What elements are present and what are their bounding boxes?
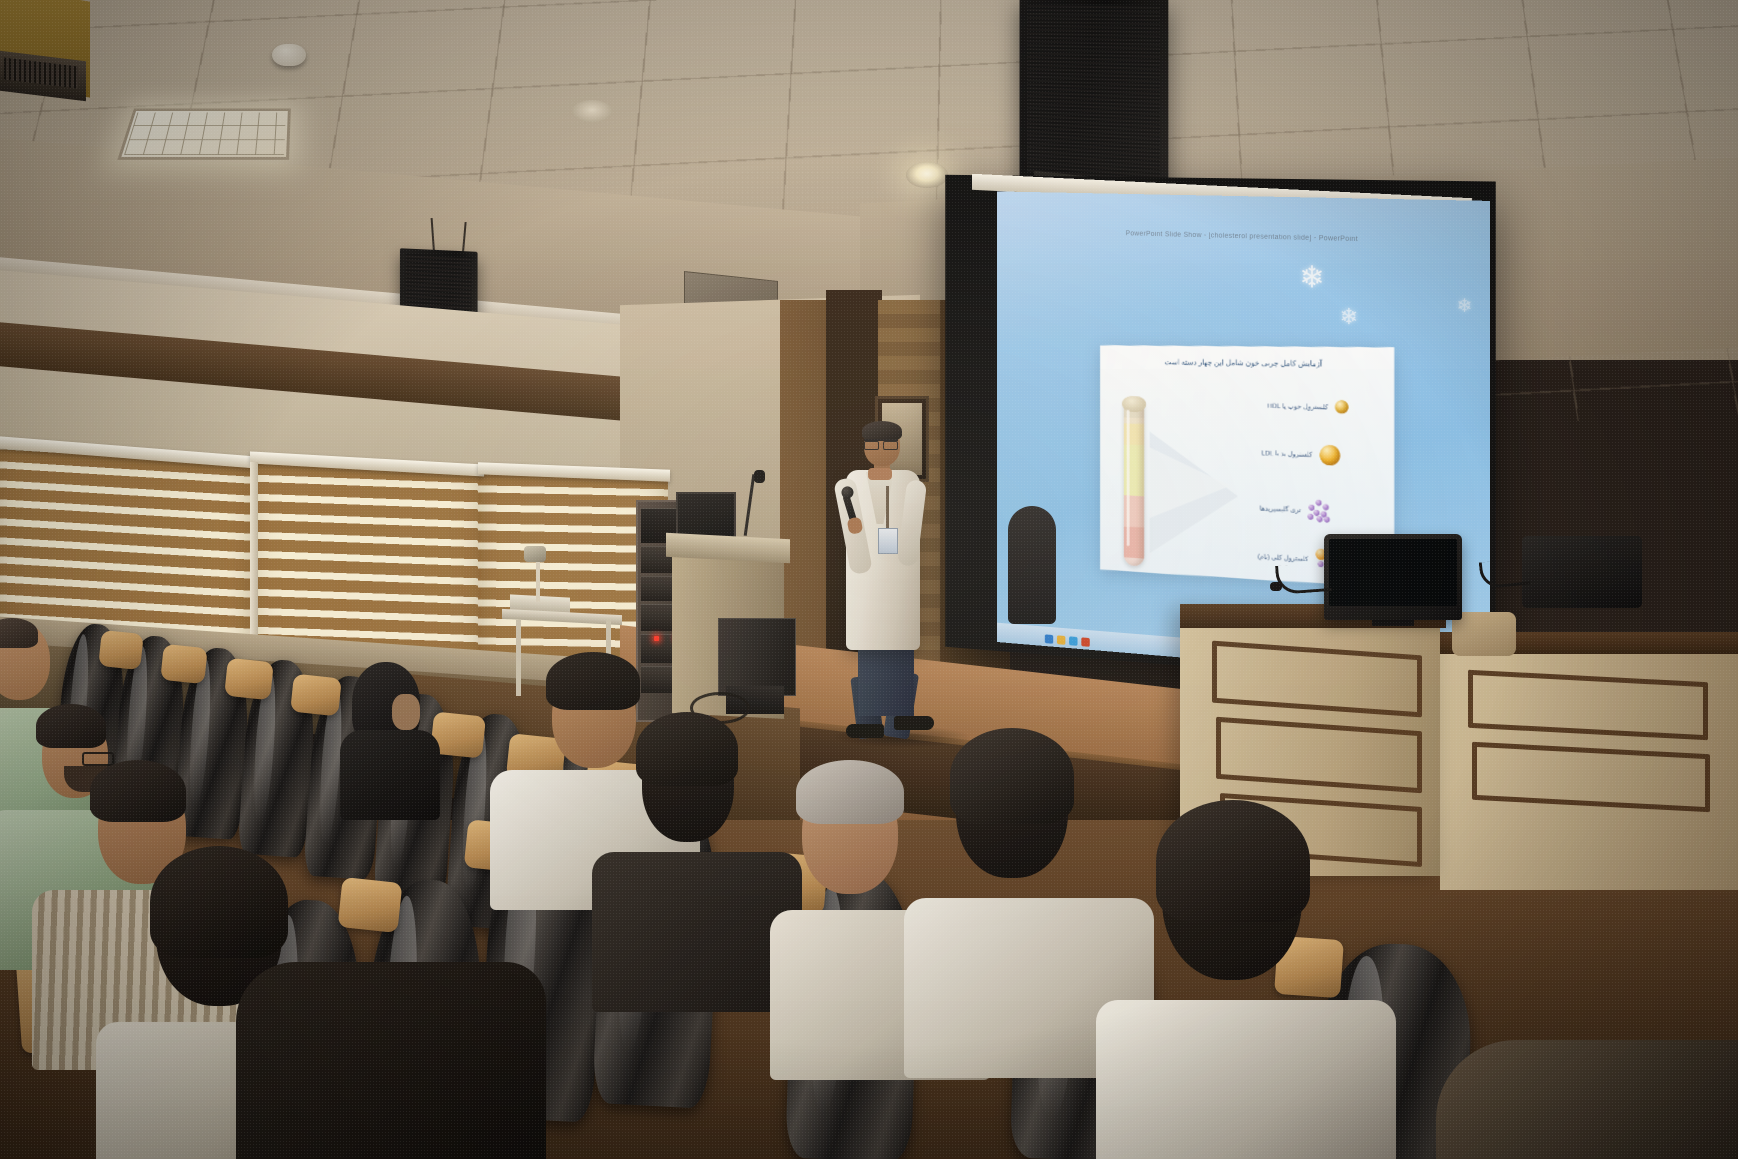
snowflake-icon: ❄ xyxy=(1340,304,1359,331)
secondary-monitor xyxy=(1522,536,1642,608)
rack-power-led-icon xyxy=(654,636,659,641)
windows-start-icon[interactable] xyxy=(1045,634,1053,643)
attendee-face xyxy=(392,694,420,730)
presenter-hair xyxy=(862,421,902,441)
chair-cushion xyxy=(98,630,144,670)
attendee-hair xyxy=(0,618,38,648)
presenter xyxy=(840,424,960,744)
monitor-screen xyxy=(1329,539,1457,606)
attendee-hair xyxy=(150,846,288,958)
smoke-detector-icon xyxy=(272,44,306,66)
test-tube-cap-icon xyxy=(1122,396,1146,412)
powerpoint-icon[interactable] xyxy=(1081,637,1089,647)
chair-cushion xyxy=(290,674,342,717)
attendee-hair xyxy=(636,712,738,786)
podium-panel xyxy=(1472,742,1710,812)
slide-heading: آزمایش کامل چربی خون شامل این چهار دسته … xyxy=(1115,357,1378,369)
ldl-sphere-icon xyxy=(1320,445,1340,466)
attendee-hair xyxy=(36,704,106,748)
presenter-lanyard xyxy=(886,486,889,530)
eyeglasses-icon xyxy=(864,439,898,448)
taskbar-icon-group[interactable] xyxy=(1045,634,1090,647)
chair-cushion xyxy=(224,658,274,701)
slide-wedge-graphic-inner xyxy=(1150,447,1230,521)
stage-chair-back xyxy=(1452,612,1516,656)
attendee-5 xyxy=(344,658,444,808)
recessed-downlight-icon xyxy=(572,100,612,122)
folder-icon[interactable] xyxy=(1057,635,1065,644)
microphone-icon xyxy=(754,470,765,483)
slide-item-ldl: کلسترول بد یا LDL xyxy=(1262,443,1340,466)
podium-monitor xyxy=(1324,534,1462,620)
slide-item-triglycerides: تری گلیسیریدها xyxy=(1260,497,1331,523)
snowflake-icon: ❄ xyxy=(1457,295,1473,317)
presenter-hand xyxy=(847,516,864,534)
attendee-hair xyxy=(950,728,1074,824)
ceiling-speaker-right xyxy=(1020,0,1169,200)
slide-item-label: کلسترول بد یا LDL xyxy=(1262,449,1313,459)
attendee-hair xyxy=(546,652,640,710)
fluorescent-light-panel-icon xyxy=(117,109,291,160)
attendee-10 xyxy=(1120,800,1360,1159)
attendee-hair xyxy=(796,760,904,824)
microphone-icon xyxy=(1270,582,1282,591)
powerpoint-title-strip: PowerPoint Slide Show - [cholesterol pre… xyxy=(1077,226,1411,248)
attendee-body xyxy=(1096,1000,1396,1159)
recessed-downlight-icon xyxy=(906,162,948,188)
light-louver-grid xyxy=(124,113,286,155)
presenter-shoe xyxy=(846,724,884,738)
presenter-collar xyxy=(868,468,892,480)
chair-cushion xyxy=(338,877,403,933)
presenter-id-badge xyxy=(878,528,898,554)
attendee-hair xyxy=(1156,800,1310,922)
foreground-shoulder xyxy=(1436,1040,1738,1159)
browser-icon[interactable] xyxy=(1069,636,1077,645)
document-camera-head-icon xyxy=(524,546,546,562)
slide-item-label: تری گلیسیریدها xyxy=(1260,504,1301,514)
attendee-7 xyxy=(596,710,776,990)
document-camera-arm xyxy=(536,558,540,602)
amplifier-unit xyxy=(718,618,796,696)
slide-item-hdl: کلسترول خوب یا HDL xyxy=(1268,399,1349,414)
slide-item-label: کلسترول کلی (تام) xyxy=(1258,552,1309,563)
lecture-hall-photo: PowerPoint Slide Show - [cholesterol pre… xyxy=(0,0,1738,1159)
foreground-shoulder xyxy=(236,962,546,1159)
hdl-sphere-icon xyxy=(1335,400,1348,414)
attendee-hair xyxy=(90,760,186,822)
triglyceride-cluster-icon xyxy=(1308,499,1330,522)
attendee-9 xyxy=(920,728,1120,1058)
attendee-body xyxy=(340,730,440,820)
speaker-grille xyxy=(1027,3,1160,183)
slide-item-label: کلسترول خوب یا HDL xyxy=(1268,401,1329,410)
seated-silhouette xyxy=(1008,506,1056,624)
chair-cushion xyxy=(160,644,208,684)
snowflake-icon: ❄ xyxy=(1299,260,1324,296)
test-tube-highlight xyxy=(1127,410,1130,546)
